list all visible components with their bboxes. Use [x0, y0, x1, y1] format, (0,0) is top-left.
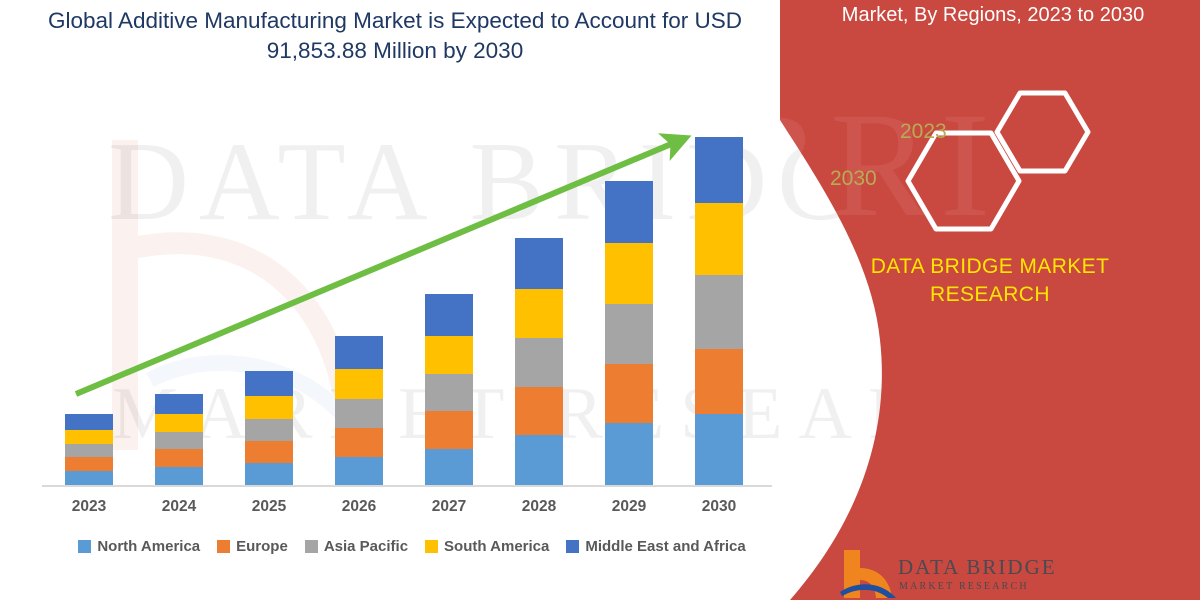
- hexagon-label-2023: 2023: [900, 120, 947, 144]
- bar-segment-2026-south-america: [335, 369, 383, 399]
- bar-segment-2025-middle-east-and-africa: [245, 371, 293, 396]
- bar-segment-2026-europe: [335, 428, 383, 457]
- bar-segment-2023-south-america: [65, 430, 113, 444]
- bar-segment-2030-asia-pacific: [695, 275, 743, 349]
- bar-segment-2025-north-america: [245, 463, 293, 485]
- bar-2030: [695, 137, 743, 485]
- hexagon-2030: [908, 133, 1019, 229]
- bar-2028: [515, 238, 563, 485]
- svg-text:RE: RE: [780, 302, 889, 424]
- bar-2029: [605, 181, 653, 485]
- infographic-root: DATA BRIDGE MARKET RESEARCH Global Addit…: [0, 0, 1200, 600]
- hexagon-badges: [890, 85, 1190, 230]
- bar-segment-2028-middle-east-and-africa: [515, 238, 563, 289]
- legend-label: Middle East and Africa: [585, 538, 745, 555]
- bar-segment-2028-asia-pacific: [515, 338, 563, 387]
- bar-2023: [65, 414, 113, 485]
- legend-label: Asia Pacific: [324, 538, 408, 555]
- x-axis-line: [42, 485, 772, 487]
- bar-segment-2029-asia-pacific: [605, 304, 653, 364]
- legend-item-north-america[interactable]: North America: [78, 538, 200, 555]
- x-tick-2023: 2023: [65, 498, 113, 516]
- x-tick-2029: 2029: [605, 498, 653, 516]
- bar-segment-2025-south-america: [245, 396, 293, 419]
- footer-logo-text: DATA BRIDGE: [898, 555, 1057, 580]
- bar-segment-2024-middle-east-and-africa: [155, 394, 203, 414]
- legend-item-asia-pacific[interactable]: Asia Pacific: [305, 538, 408, 555]
- bar-segment-2028-south-america: [515, 289, 563, 338]
- bar-segment-2029-middle-east-and-africa: [605, 181, 653, 243]
- legend-swatch-icon: [425, 540, 438, 553]
- legend-item-europe[interactable]: Europe: [217, 538, 288, 555]
- bar-2026: [335, 336, 383, 485]
- bar-segment-2024-south-america: [155, 414, 203, 432]
- bar-segment-2024-asia-pacific: [155, 432, 203, 449]
- bar-segment-2023-asia-pacific: [65, 444, 113, 457]
- footer-logo: DATA BRIDGE MARKET RESEARCH: [838, 548, 1098, 600]
- bar-segment-2024-europe: [155, 449, 203, 467]
- legend-swatch-icon: [217, 540, 230, 553]
- x-tick-2030: 2030: [695, 498, 743, 516]
- panel-heading: Market, By Regions, 2023 to 2030: [800, 2, 1186, 28]
- legend-item-south-america[interactable]: South America: [425, 538, 549, 555]
- bar-2025: [245, 371, 293, 485]
- bar-segment-2030-south-america: [695, 203, 743, 275]
- growth-trend-arrow: [0, 0, 800, 600]
- legend-label: North America: [97, 538, 200, 555]
- x-tick-2028: 2028: [515, 498, 563, 516]
- bar-segment-2027-north-america: [425, 449, 473, 485]
- brand-name-line1: DATA BRIDGE MARKET: [780, 255, 1200, 279]
- footer-logo-subtext: MARKET RESEARCH: [899, 581, 1029, 592]
- hexagon-2023: [997, 93, 1088, 171]
- bar-segment-2029-south-america: [605, 243, 653, 304]
- bar-segment-2025-asia-pacific: [245, 419, 293, 441]
- legend-item-middle-east-and-africa[interactable]: Middle East and Africa: [566, 538, 745, 555]
- bar-segment-2030-north-america: [695, 414, 743, 485]
- legend-label: South America: [444, 538, 549, 555]
- right-red-panel: BRI RE Market, By Regions, 2023 to 2030 …: [780, 0, 1200, 600]
- bar-segment-2027-middle-east-and-africa: [425, 294, 473, 336]
- bar-segment-2024-north-america: [155, 467, 203, 485]
- hexagon-label-2030: 2030: [830, 167, 877, 191]
- x-tick-2025: 2025: [245, 498, 293, 516]
- bar-segment-2029-north-america: [605, 423, 653, 485]
- bar-segment-2026-asia-pacific: [335, 399, 383, 428]
- bar-2024: [155, 394, 203, 485]
- bar-segment-2029-europe: [605, 364, 653, 423]
- bar-segment-2028-north-america: [515, 435, 563, 485]
- x-tick-2024: 2024: [155, 498, 203, 516]
- bar-segment-2025-europe: [245, 441, 293, 463]
- chart-plot-area: 20232024202520262027202820292030: [0, 0, 800, 600]
- bar-segment-2027-south-america: [425, 336, 473, 374]
- bar-segment-2030-europe: [695, 349, 743, 414]
- bar-segment-2030-middle-east-and-africa: [695, 137, 743, 203]
- bar-segment-2026-north-america: [335, 457, 383, 485]
- bridge-logo-icon: [838, 548, 898, 600]
- x-tick-2027: 2027: [425, 498, 473, 516]
- legend-swatch-icon: [78, 540, 91, 553]
- x-tick-2026: 2026: [335, 498, 383, 516]
- bar-2027: [425, 294, 473, 485]
- bar-segment-2027-asia-pacific: [425, 374, 473, 411]
- brand-name-line2: RESEARCH: [780, 283, 1200, 307]
- chart-legend: North AmericaEuropeAsia PacificSouth Ame…: [42, 538, 782, 555]
- bar-segment-2023-north-america: [65, 471, 113, 485]
- legend-label: Europe: [236, 538, 288, 555]
- legend-swatch-icon: [566, 540, 579, 553]
- legend-swatch-icon: [305, 540, 318, 553]
- bar-segment-2026-middle-east-and-africa: [335, 336, 383, 369]
- bar-segment-2027-europe: [425, 411, 473, 449]
- bar-segment-2023-middle-east-and-africa: [65, 414, 113, 430]
- bar-segment-2023-europe: [65, 457, 113, 471]
- bar-segment-2028-europe: [515, 387, 563, 435]
